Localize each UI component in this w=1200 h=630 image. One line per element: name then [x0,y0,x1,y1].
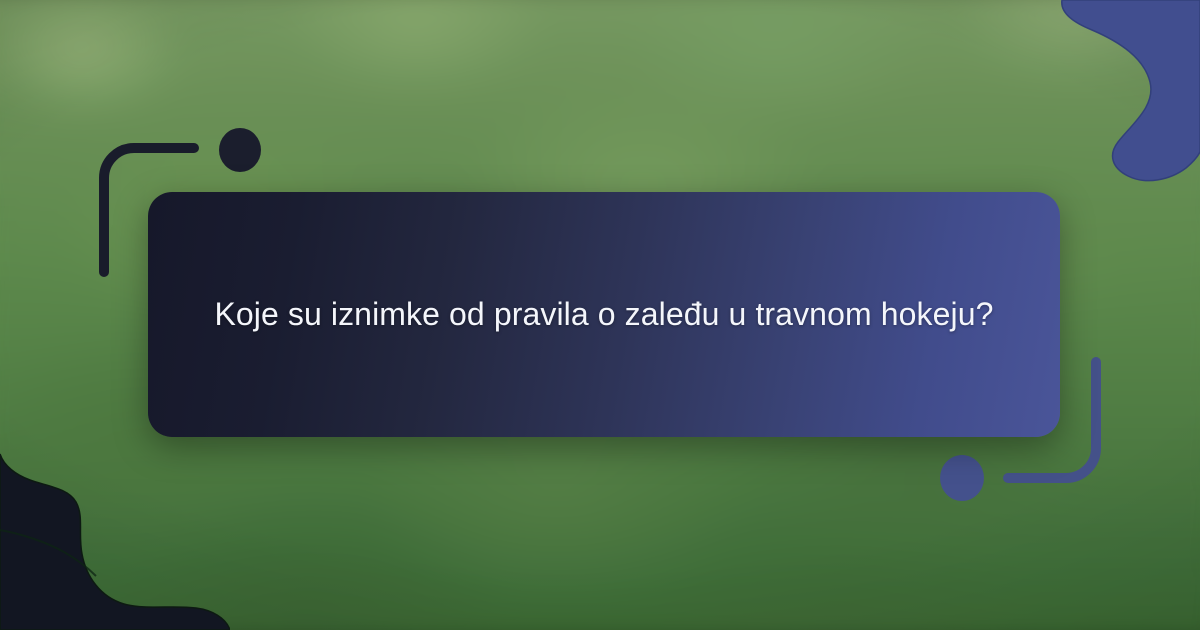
social-card-canvas: Koje su iznimke od pravila o zaleđu u tr… [0,0,1200,630]
question-text: Koje su iznimke od pravila o zaleđu u tr… [214,289,993,340]
blob-bottom-left [0,410,230,630]
dot-icon [940,455,984,501]
blob-top-right [1000,0,1200,210]
dot-icon [219,128,261,172]
question-card: Koje su iznimke od pravila o zaleđu u tr… [148,192,1060,437]
